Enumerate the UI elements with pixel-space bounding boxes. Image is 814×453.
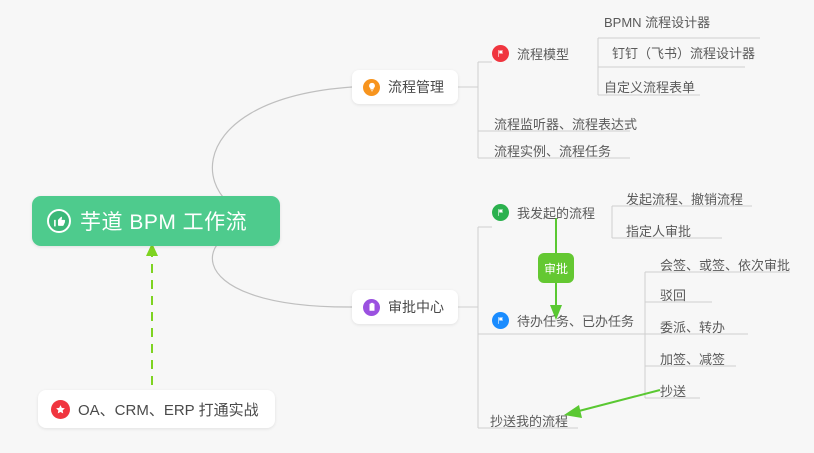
leaf-designated-approver[interactable]: 指定人审批 — [626, 221, 691, 244]
leaf-label: 待办任务、已办任务 — [517, 311, 634, 330]
leaf-label: 加签、减签 — [660, 349, 725, 368]
leaf-label: 抄送我的流程 — [490, 411, 568, 430]
leaf-flow-model[interactable]: 流程模型 — [492, 44, 569, 67]
leaf-bpmn-designer[interactable]: BPMN 流程设计器 — [604, 12, 710, 35]
leaf-label: 我发起的流程 — [517, 203, 595, 222]
leaf-label: BPMN 流程设计器 — [604, 12, 710, 31]
leaf-delegate-transfer[interactable]: 委派、转办 — [660, 317, 725, 340]
leaf-label: 抄送 — [660, 381, 686, 400]
branch-node-flow-management[interactable]: 流程管理 — [352, 70, 458, 104]
leaf-label: 驳回 — [660, 285, 686, 304]
root-label: 芋道 BPM 工作流 — [80, 206, 247, 236]
mindmap-canvas: 芋道 BPM 工作流 流程管理 流程模型 流程监听器、流程表达式 流程实例、流程… — [0, 0, 814, 453]
leaf-my-initiated-flows[interactable]: 我发起的流程 — [492, 203, 595, 226]
leaf-reject[interactable]: 驳回 — [660, 285, 686, 308]
leaf-label: 流程实例、流程任务 — [494, 141, 611, 160]
leaf-flow-instance[interactable]: 流程实例、流程任务 — [494, 141, 611, 164]
leaf-label: 流程监听器、流程表达式 — [494, 114, 637, 133]
leaf-cc[interactable]: 抄送 — [660, 381, 686, 404]
branch-node-approval-center[interactable]: 审批中心 — [352, 290, 458, 324]
bottom-node-oa-crm-erp[interactable]: OA、CRM、ERP 打通实战 — [38, 390, 275, 428]
star-icon — [51, 400, 70, 419]
leaf-add-remove-sign[interactable]: 加签、减签 — [660, 349, 725, 372]
branch-label-approval-center: 审批中心 — [388, 297, 444, 317]
leaf-countersign[interactable]: 会签、或签、依次审批 — [660, 255, 790, 278]
flag-icon — [492, 45, 509, 62]
approval-badge[interactable]: 审批 — [538, 253, 574, 283]
leaf-label: 发起流程、撤销流程 — [626, 189, 743, 208]
approval-badge-label: 审批 — [544, 260, 568, 277]
leaf-label: 委派、转办 — [660, 317, 725, 336]
root-node[interactable]: 芋道 BPM 工作流 — [32, 196, 280, 246]
leaf-label: 钉钉（飞书）流程设计器 — [612, 43, 755, 62]
leaf-dingtalk-designer[interactable]: 钉钉（飞书）流程设计器 — [612, 43, 755, 66]
lightbulb-icon — [363, 79, 380, 96]
flag-icon — [492, 204, 509, 221]
clipboard-icon — [363, 299, 380, 316]
thumbs-up-icon — [47, 209, 71, 233]
bottom-node-label: OA、CRM、ERP 打通实战 — [78, 399, 259, 420]
leaf-label: 流程模型 — [517, 44, 569, 63]
leaf-cc-my-flows[interactable]: 抄送我的流程 — [490, 411, 568, 434]
flag-icon — [492, 312, 509, 329]
leaf-label: 会签、或签、依次审批 — [660, 255, 790, 274]
leaf-custom-form[interactable]: 自定义流程表单 — [604, 77, 695, 100]
branch-label-flow-management: 流程管理 — [388, 77, 444, 97]
leaf-start-cancel-flow[interactable]: 发起流程、撤销流程 — [626, 189, 743, 212]
leaf-label: 自定义流程表单 — [604, 77, 695, 96]
leaf-todo-done-tasks[interactable]: 待办任务、已办任务 — [492, 311, 634, 334]
leaf-label: 指定人审批 — [626, 221, 691, 240]
leaf-flow-listener[interactable]: 流程监听器、流程表达式 — [494, 114, 637, 137]
